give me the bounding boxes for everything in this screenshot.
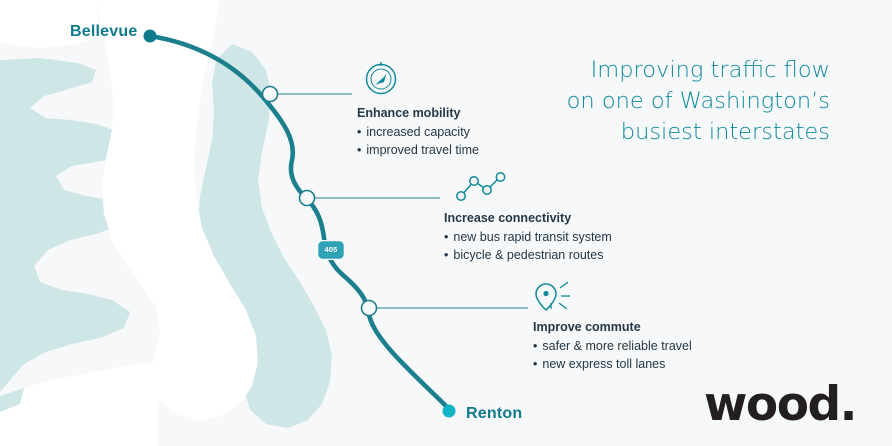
city-label-bellevue: Bellevue bbox=[70, 23, 137, 41]
callout-title: Enhance mobility bbox=[357, 106, 479, 120]
callout-bullet: increased capacity bbox=[357, 124, 479, 142]
callout-bullet: safer & more reliable travel bbox=[533, 338, 692, 356]
callout-bullet-list: increased capacity improved travel time bbox=[357, 124, 479, 159]
callout-increase-connectivity: Increase connectivity new bus rapid tran… bbox=[444, 211, 612, 264]
callout-title: Increase connectivity bbox=[444, 211, 612, 225]
headline-line-1: Improving traffic flow bbox=[490, 55, 830, 86]
callout-bullet-list: new bus rapid transit system bicycle & p… bbox=[444, 229, 612, 264]
city-label-renton: Renton bbox=[466, 405, 522, 423]
callout-bullet: new express toll lanes bbox=[533, 356, 692, 374]
callout-bullet-list: safer & more reliable travel new express… bbox=[533, 338, 692, 373]
wood-logo-dot: . bbox=[840, 377, 856, 432]
wood-logo-text: wood bbox=[704, 377, 840, 432]
network-nodes-icon bbox=[457, 173, 505, 200]
callout-title: Improve commute bbox=[533, 320, 692, 334]
map-pin-icon bbox=[536, 282, 570, 310]
headline: Improving traffic flow on one of Washing… bbox=[490, 55, 830, 148]
callout-bullet: improved travel time bbox=[357, 142, 479, 160]
callout-enhance-mobility: Enhance mobility increased capacity impr… bbox=[357, 106, 479, 159]
callout-improve-commute: Improve commute safer & more reliable tr… bbox=[533, 320, 692, 373]
callout-bullet: new bus rapid transit system bbox=[444, 229, 612, 247]
headline-line-3: busiest interstates bbox=[490, 117, 830, 148]
route-shield-label: 405 bbox=[317, 240, 345, 260]
compass-icon bbox=[367, 62, 396, 94]
route-shield-405: 405 bbox=[317, 240, 345, 260]
infographic-canvas: 405 Bellevue Renton Improving traffic fl… bbox=[0, 0, 892, 446]
wood-logo: wood. bbox=[704, 381, 856, 428]
callout-bullet: bicycle & pedestrian routes bbox=[444, 247, 612, 265]
headline-line-2: on one of Washington’s bbox=[490, 86, 830, 117]
